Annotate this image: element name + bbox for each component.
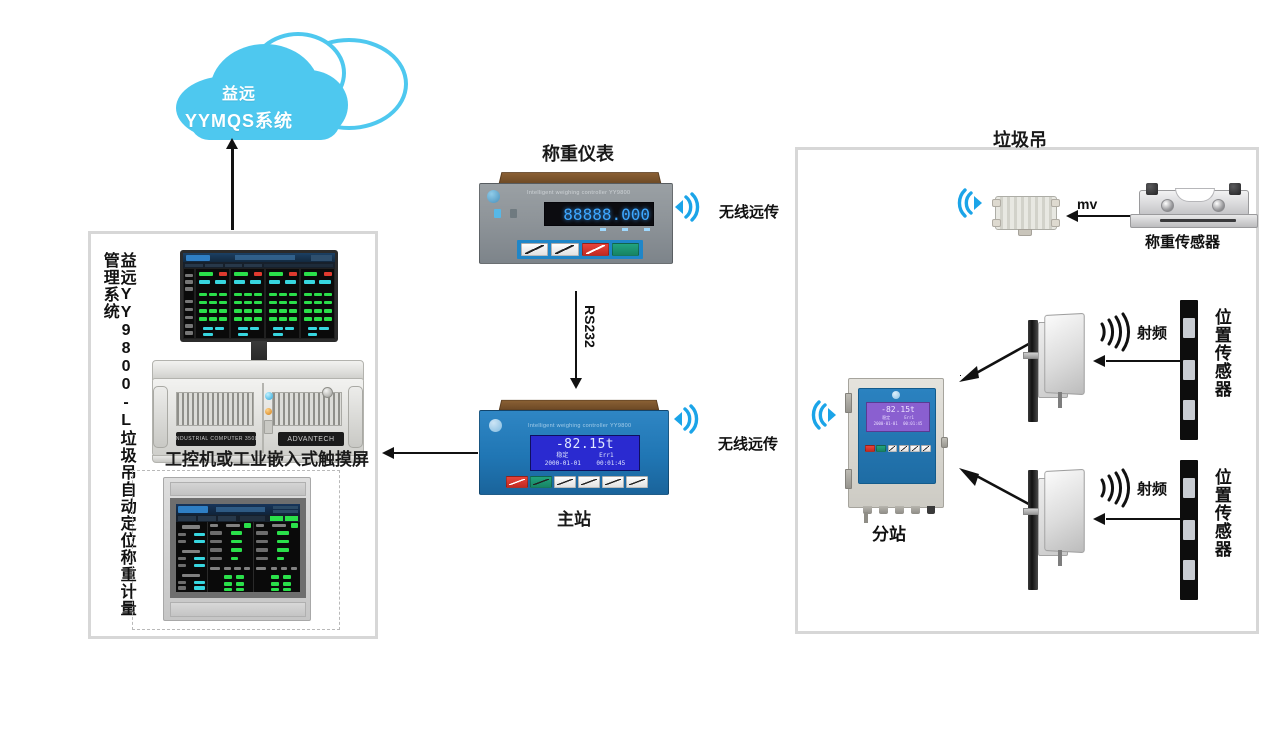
main-station-title: 主站 [479, 505, 669, 530]
chassis-lock [322, 387, 333, 398]
key-fn3[interactable] [910, 445, 920, 453]
position-sensor-strip-top [1180, 300, 1198, 440]
software-data-grid [183, 268, 335, 339]
toolbar-button [205, 264, 223, 267]
tp-sw-mid-col [208, 522, 254, 592]
chassis-vent-right [272, 392, 342, 426]
key-fn2[interactable] [578, 476, 600, 488]
touchpanel-bottom-bar [170, 602, 306, 617]
position-sensor-label-bottom: 位置传感器 [1212, 468, 1230, 558]
key-confirm[interactable] [530, 476, 552, 488]
chassis-divider [262, 383, 264, 453]
main-station-top-cover [499, 400, 660, 410]
antenna-pole-bottom [1028, 470, 1038, 590]
cloud-yymqs: 益远 YYMQS系统 [172, 32, 422, 142]
sensor-window [1183, 520, 1195, 540]
arrow-rs232-line [575, 291, 577, 381]
monitor-screen [183, 253, 335, 339]
rs232-label: RS232 [582, 305, 598, 348]
status-dot-2 [622, 228, 628, 231]
brand-logo-icon [487, 190, 500, 203]
wifi-signal-icon-mainstation [670, 402, 704, 436]
main-station-keypad[interactable] [502, 474, 652, 490]
substation-lcd-value: -82.15t [867, 405, 929, 415]
tp-sw-topbar [176, 504, 300, 515]
rf-wave-icon-top [1096, 312, 1136, 352]
substation-label: 分站 [872, 520, 906, 545]
load-cell-slot [1160, 219, 1236, 222]
position-sensor-label-top: 位置传感器 [1212, 308, 1230, 398]
key-confirm[interactable] [612, 243, 639, 257]
crane-box-title: 垃圾吊 [930, 126, 1110, 152]
chassis-handle-right [348, 386, 363, 448]
cable-gland-4 [911, 506, 920, 514]
hdd-led [265, 408, 272, 415]
brand-logo-icon [892, 391, 900, 399]
chassis-handle-left [153, 386, 168, 448]
sensor-window [1183, 400, 1195, 420]
cable-gland-5 [927, 506, 935, 514]
sensor-window [1183, 560, 1195, 580]
tp-sw-status [273, 506, 298, 509]
weighing-instrument-keypad[interactable] [517, 240, 643, 259]
key-fn1[interactable] [554, 476, 576, 488]
key-clear[interactable] [582, 243, 609, 257]
transmitter-connector [1018, 229, 1032, 236]
arrow-sensor-rf-bottom-line [1106, 518, 1180, 520]
substation-lcd: -82.15t 稳定 Err1 2000-01-01 00:01:45 [866, 402, 930, 432]
load-cell-bolt-right [1229, 183, 1241, 195]
weighing-instrument-face: Intelligent weighing controller YY9800 8… [479, 183, 673, 264]
sensor-window [1183, 360, 1195, 380]
main-station-brand: Intelligent weighing controller YY9800 [528, 423, 631, 429]
chassis-plate-left: INDUSTRIAL COMPUTER 350L [176, 432, 256, 446]
substation-panel-face: -82.15t 稳定 Err1 2000-01-01 00:01:45 [858, 388, 936, 484]
key-fn3[interactable] [602, 476, 624, 488]
cabinet-hinge-bottom [845, 469, 852, 489]
arrow-sensor-rf-top-line [1106, 360, 1180, 362]
wifi-signal-icon-transmitter [952, 186, 986, 220]
rf-label-top: 射频 [1137, 322, 1167, 343]
substation-keypad[interactable] [864, 443, 932, 454]
lcd-time: 00:01:45 [596, 460, 625, 468]
antenna-panel-top [1044, 313, 1084, 395]
cable-stub [864, 512, 868, 523]
rf-wave-icon-bottom [1096, 468, 1136, 508]
substation-lcd-time: 00:01:45 [903, 421, 922, 427]
rf-label-bottom: 射频 [1137, 478, 1167, 499]
antenna-pole-top [1028, 320, 1038, 422]
sensor-window [1183, 318, 1195, 338]
weighing-instrument-display: 88888.000 [544, 202, 654, 226]
tp-sw-logo [178, 506, 208, 514]
key-tare[interactable] [551, 243, 578, 257]
display-value: 88888.000 [563, 205, 650, 224]
grid-data-col [230, 268, 265, 339]
power-switch [264, 420, 273, 434]
tp-sw-left-col [176, 522, 208, 592]
wireless-label-weighing: 无线远传 [719, 201, 779, 222]
grid-data-col [195, 268, 230, 339]
toolbar-button [185, 264, 203, 267]
mv-label: mv [1077, 196, 1097, 212]
arrow-sensor-rf-top-head [1093, 355, 1105, 367]
diagram-canvas: 益远 YYMQS系统 益远YY9800-L垃圾吊自动定位称重计量管理系统 [0, 0, 1276, 750]
arrow-rs232-head [570, 378, 582, 389]
status-dot-3 [644, 228, 650, 231]
lcd-date: 2000-01-01 [545, 460, 581, 468]
lcd-status-right: Err1 [599, 452, 613, 460]
sensor-window [1183, 478, 1195, 498]
arrow-pc-to-cloud-line [231, 148, 234, 230]
lcd-weight-value: -82.15t [531, 437, 639, 452]
tp-sw-title [216, 507, 266, 512]
toolbar-button [225, 264, 243, 267]
load-cell-label: 称重传感器 [1145, 231, 1220, 252]
wireless-transmitter-box [995, 196, 1057, 230]
key-fn1[interactable] [888, 445, 898, 453]
toolbar-button [244, 264, 262, 267]
arrow-pc-to-cloud-head [226, 138, 238, 149]
cable-gland-2 [879, 506, 888, 514]
key-zero[interactable] [521, 243, 548, 257]
wireless-label-mainstation: 无线远传 [718, 433, 778, 454]
left-panel-vertical-title: 益远YY9800-L垃圾吊自动定位称重计量管理系统 [100, 252, 134, 622]
weighing-instrument-title: 称重仪表 [478, 140, 678, 166]
software-topbar-right [311, 255, 332, 261]
substation-cabinet: -82.15t 稳定 Err1 2000-01-01 00:01:45 [848, 378, 944, 508]
substation-lcd-date: 2000-01-01 [874, 421, 898, 427]
load-cell-bolt-left [1146, 183, 1158, 195]
key-fn2[interactable] [899, 445, 909, 453]
touchpanel-top-bar [170, 482, 306, 496]
indicator-lamp-1 [494, 209, 501, 218]
lcd-status-left: 稳定 [556, 452, 568, 460]
grid-data-col [300, 268, 335, 339]
cabinet-hinge-top [845, 393, 852, 413]
toolbar-spacer [264, 264, 333, 267]
status-dot-1 [600, 228, 606, 231]
load-cell-hole-left [1161, 199, 1174, 212]
cloud-label-line1: 益远 [114, 80, 364, 104]
load-cell-hole-right [1212, 199, 1225, 212]
main-station-face: Intelligent weighing controller YY9800 -… [479, 410, 669, 495]
position-sensor-strip-bottom [1180, 460, 1198, 600]
touch-panel [163, 477, 311, 621]
tp-sw-right-col [254, 522, 300, 592]
key-fn4[interactable] [921, 445, 931, 453]
key-clear[interactable] [506, 476, 528, 488]
chassis-vent-left [176, 392, 254, 426]
arrow-mv-line [1078, 215, 1138, 217]
software-logo [186, 255, 210, 261]
software-title-bar [235, 255, 296, 260]
chassis-top-shell [152, 360, 364, 380]
weighing-instrument-brand: Intelligent weighing controller YY9800 [527, 190, 630, 196]
monitor-caption: 工控机或工业嵌入式触摸屏 [152, 445, 382, 470]
chassis-plate-right: ADVANTECH [278, 432, 344, 446]
grid-data-col [265, 268, 300, 339]
key-confirm[interactable] [876, 445, 886, 453]
grid-head-col [183, 268, 195, 339]
antenna-panel-bottom [1044, 469, 1084, 553]
antenna-tail-bottom [1058, 550, 1062, 566]
key-clear[interactable] [865, 445, 875, 453]
monitor-bezel [180, 250, 338, 342]
key-fn4[interactable] [626, 476, 648, 488]
wifi-signal-icon-substation [806, 398, 840, 432]
antenna-tail-top [1058, 392, 1062, 408]
cabinet-latch[interactable] [941, 437, 948, 448]
wifi-signal-icon-weighing [671, 190, 705, 224]
arrow-station-to-pc-head [382, 447, 394, 459]
brand-logo-icon [489, 419, 502, 432]
touchpanel-frame [170, 498, 306, 598]
main-station-lcd: -82.15t 稳定 Err1 2000-01-01 00:01:45 [530, 435, 640, 471]
arrow-sensor-rf-bottom-head [1093, 513, 1105, 525]
power-led [265, 392, 273, 400]
arrow-station-to-pc-line [394, 452, 478, 454]
software-topbar [183, 253, 335, 262]
touchpanel-screen [176, 504, 300, 592]
cable-gland-3 [895, 506, 904, 514]
indicator-lamp-2 [510, 209, 517, 218]
tp-sw-status2 [273, 510, 298, 513]
cloud-label-line2: YYMQS系统 [114, 107, 364, 133]
